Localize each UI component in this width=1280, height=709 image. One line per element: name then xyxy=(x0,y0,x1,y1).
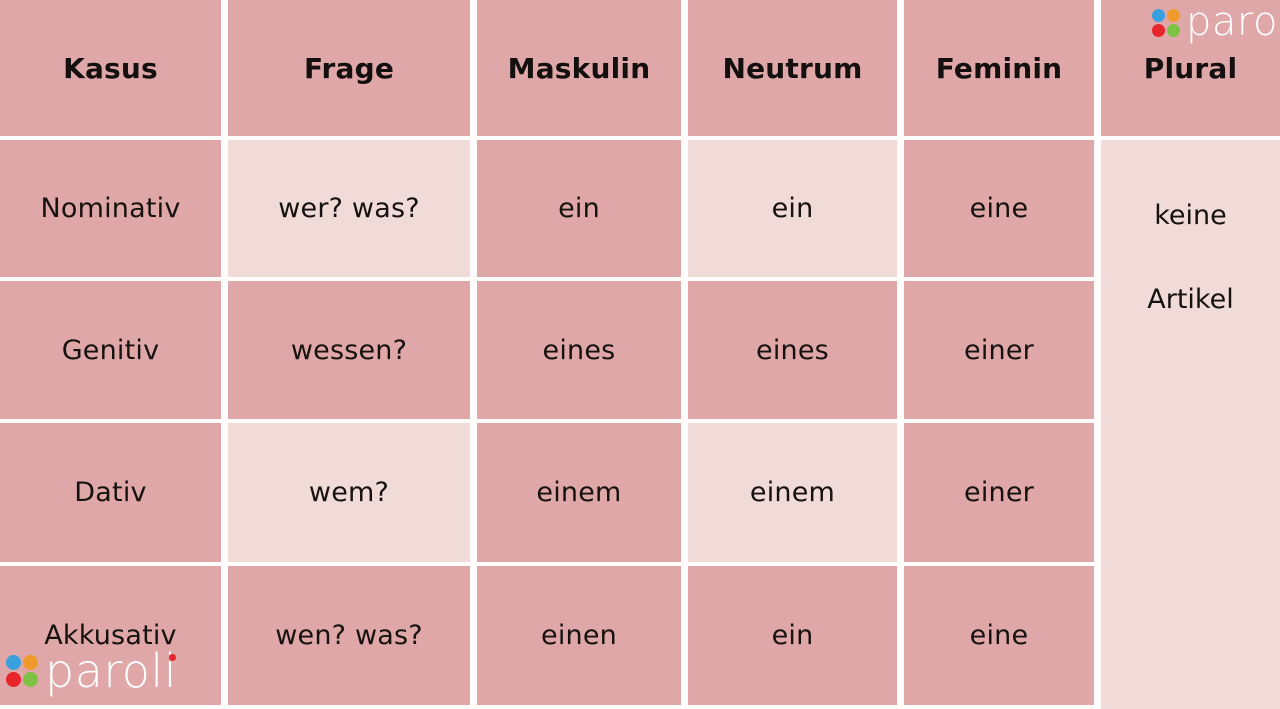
cell-kasus: Dativ xyxy=(74,477,146,508)
table-header-label: Maskulin xyxy=(508,52,651,85)
table-row: einer xyxy=(904,423,1101,566)
page-root: Kasus Frage Maskulin Neutrum Feminin Plu… xyxy=(0,0,1280,709)
cell-maskulin: einen xyxy=(541,620,617,651)
cell-neutrum: ein xyxy=(772,620,814,651)
table-header-neutrum: Neutrum xyxy=(688,0,904,140)
table-header-frage: Frage xyxy=(228,0,477,140)
cell-plural-line2: Artikel xyxy=(1147,286,1233,313)
cell-maskulin: eines xyxy=(543,335,616,366)
table-header-label: Feminin xyxy=(936,52,1063,85)
table-row: ein xyxy=(688,140,904,281)
cell-frage: wen? was? xyxy=(275,620,423,651)
table-row: wer? was? xyxy=(228,140,477,281)
table-row: eines xyxy=(477,281,688,423)
table-header-kasus: Kasus xyxy=(0,0,228,140)
table-header-maskulin: Maskulin xyxy=(477,0,688,140)
cell-frage: wessen? xyxy=(291,335,407,366)
table-row: eines xyxy=(688,281,904,423)
cell-feminin: einer xyxy=(964,335,1034,366)
cell-neutrum: einem xyxy=(750,477,835,508)
cell-frage: wem? xyxy=(309,477,389,508)
table-row: einem xyxy=(688,423,904,566)
table-row: Dativ xyxy=(0,423,228,566)
table-header-label: Neutrum xyxy=(722,52,862,85)
table-row: wen? was? xyxy=(228,566,477,709)
table-row: wessen? xyxy=(228,281,477,423)
cell-maskulin: ein xyxy=(558,193,600,224)
table-row: eine xyxy=(904,566,1101,709)
table-row: einer xyxy=(904,281,1101,423)
table-row: Akkusativ xyxy=(0,566,228,709)
table-header-plural: Plural xyxy=(1101,0,1280,140)
cell-feminin: eine xyxy=(970,620,1029,651)
cell-feminin: einer xyxy=(964,477,1034,508)
table-row: einen xyxy=(477,566,688,709)
declension-table: Kasus Frage Maskulin Neutrum Feminin Plu… xyxy=(0,0,1280,709)
table-row: einem xyxy=(477,423,688,566)
table-header-feminin: Feminin xyxy=(904,0,1101,140)
cell-plural-line1: keine xyxy=(1154,202,1227,229)
cell-frage: wer? was? xyxy=(278,193,420,224)
table-header-label: Kasus xyxy=(63,52,158,85)
cell-maskulin: einem xyxy=(536,477,621,508)
cell-neutrum: ein xyxy=(772,193,814,224)
cell-feminin: eine xyxy=(970,193,1029,224)
cell-plural-merged: keine Artikel xyxy=(1101,140,1280,709)
table-header-label: Frage xyxy=(304,52,394,85)
table-row: wem? xyxy=(228,423,477,566)
cell-kasus: Nominativ xyxy=(40,193,180,224)
table-row: Nominativ xyxy=(0,140,228,281)
table-row: Genitiv xyxy=(0,281,228,423)
table-header-label: Plural xyxy=(1144,52,1238,85)
table-row: ein xyxy=(477,140,688,281)
table-row: eine xyxy=(904,140,1101,281)
table-row: ein xyxy=(688,566,904,709)
cell-kasus: Akkusativ xyxy=(44,620,177,651)
cell-kasus: Genitiv xyxy=(62,335,160,366)
cell-neutrum: eines xyxy=(756,335,829,366)
